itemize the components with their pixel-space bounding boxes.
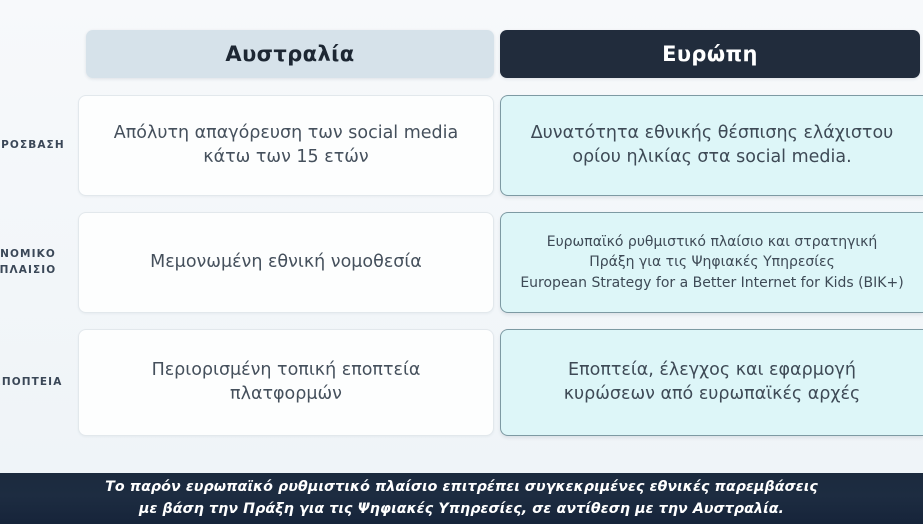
cell-text-line: Εποπτεία, έλεγχος και εφαρμογή: [517, 359, 907, 383]
cell-text-line: Ευρωπαϊκό ρυθμιστικό πλαίσιο και στρατηγ…: [517, 232, 907, 252]
cell-text-line: κυρώσεων από ευρωπαϊκές αρχές: [517, 383, 907, 407]
row-label-line-1: ΠΡΟΣΒΑΣΗ: [0, 138, 65, 153]
row-label-line-1: ΕΠΟΠΤΕΙΑ: [0, 375, 62, 390]
footer-banner: Το παρόν ευρωπαϊκό ρυθμιστικό πλαίσιο επ…: [0, 473, 923, 524]
comparison-grid: ΠΡΟΣΒΑΣΗ Απόλυτη απαγόρευση των social m…: [0, 95, 923, 445]
comparison-slide: Αυστραλία Ευρώπη ΠΡΟΣΒΑΣΗ Απόλυτη απαγόρ…: [0, 0, 923, 524]
cell-text-line: Πράξη για τις Ψηφιακές Υπηρεσίες: [517, 252, 907, 272]
footer-line-1: Το παρόν ευρωπαϊκό ρυθμιστικό πλαίσιο επ…: [105, 477, 818, 498]
row-label-legal-framework: ΝΟΜΙΚΟ ΠΛΑΙΣΙΟ: [0, 212, 68, 313]
row-label-supervision: ΕΠΟΠΤΕΙΑ: [0, 329, 68, 436]
cell-text-line: κάτω των 15 ετών: [95, 146, 477, 170]
row-label-access: ΠΡΟΣΒΑΣΗ: [0, 95, 68, 196]
column-header-europe: Ευρώπη: [500, 30, 920, 78]
cell-text-line: Περιορισμένη τοπική εποπτεία: [95, 359, 477, 383]
cell-text-line: Μεμονωμένη εθνική νομοθεσία: [95, 251, 477, 275]
cell-text-line: Απόλυτη απαγόρευση των social media: [95, 122, 477, 146]
footer-line-2: με βάση την Πράξη για τις Ψηφιακές Υπηρε…: [139, 499, 784, 520]
row-label-line-1: ΝΟΜΙΚΟ: [0, 247, 56, 262]
row-label-line-2: ΠΛΑΙΣΙΟ: [0, 263, 56, 278]
column-header-europe-label: Ευρώπη: [662, 42, 758, 66]
cell-australia-legal-framework: Μεμονωμένη εθνική νομοθεσία: [78, 212, 494, 313]
cell-australia-access: Απόλυτη απαγόρευση των social media κάτω…: [78, 95, 494, 196]
cell-text-line: European Strategy for a Better Internet …: [517, 273, 907, 293]
cell-australia-supervision: Περιορισμένη τοπική εποπτεία πλατφορμών: [78, 329, 494, 436]
column-headers: Αυστραλία Ευρώπη: [0, 30, 923, 78]
table-row: ΠΡΟΣΒΑΣΗ Απόλυτη απαγόρευση των social m…: [0, 95, 923, 196]
cell-europe-legal-framework: Ευρωπαϊκό ρυθμιστικό πλαίσιο και στρατηγ…: [500, 212, 923, 313]
column-header-australia: Αυστραλία: [86, 30, 494, 78]
table-row: ΕΠΟΠΤΕΙΑ Περιορισμένη τοπική εποπτεία πλ…: [0, 329, 923, 436]
cell-europe-supervision: Εποπτεία, έλεγχος και εφαρμογή κυρώσεων …: [500, 329, 923, 436]
cell-text-line: ορίου ηλικίας στα social media.: [517, 146, 907, 170]
cell-text-line: πλατφορμών: [95, 383, 477, 407]
cell-text-line: Δυνατότητα εθνικής θέσπισης ελάχιστου: [517, 122, 907, 146]
cell-europe-access: Δυνατότητα εθνικής θέσπισης ελάχιστου ορ…: [500, 95, 923, 196]
table-row: ΝΟΜΙΚΟ ΠΛΑΙΣΙΟ Μεμονωμένη εθνική νομοθεσ…: [0, 212, 923, 313]
column-header-australia-label: Αυστραλία: [225, 42, 354, 66]
